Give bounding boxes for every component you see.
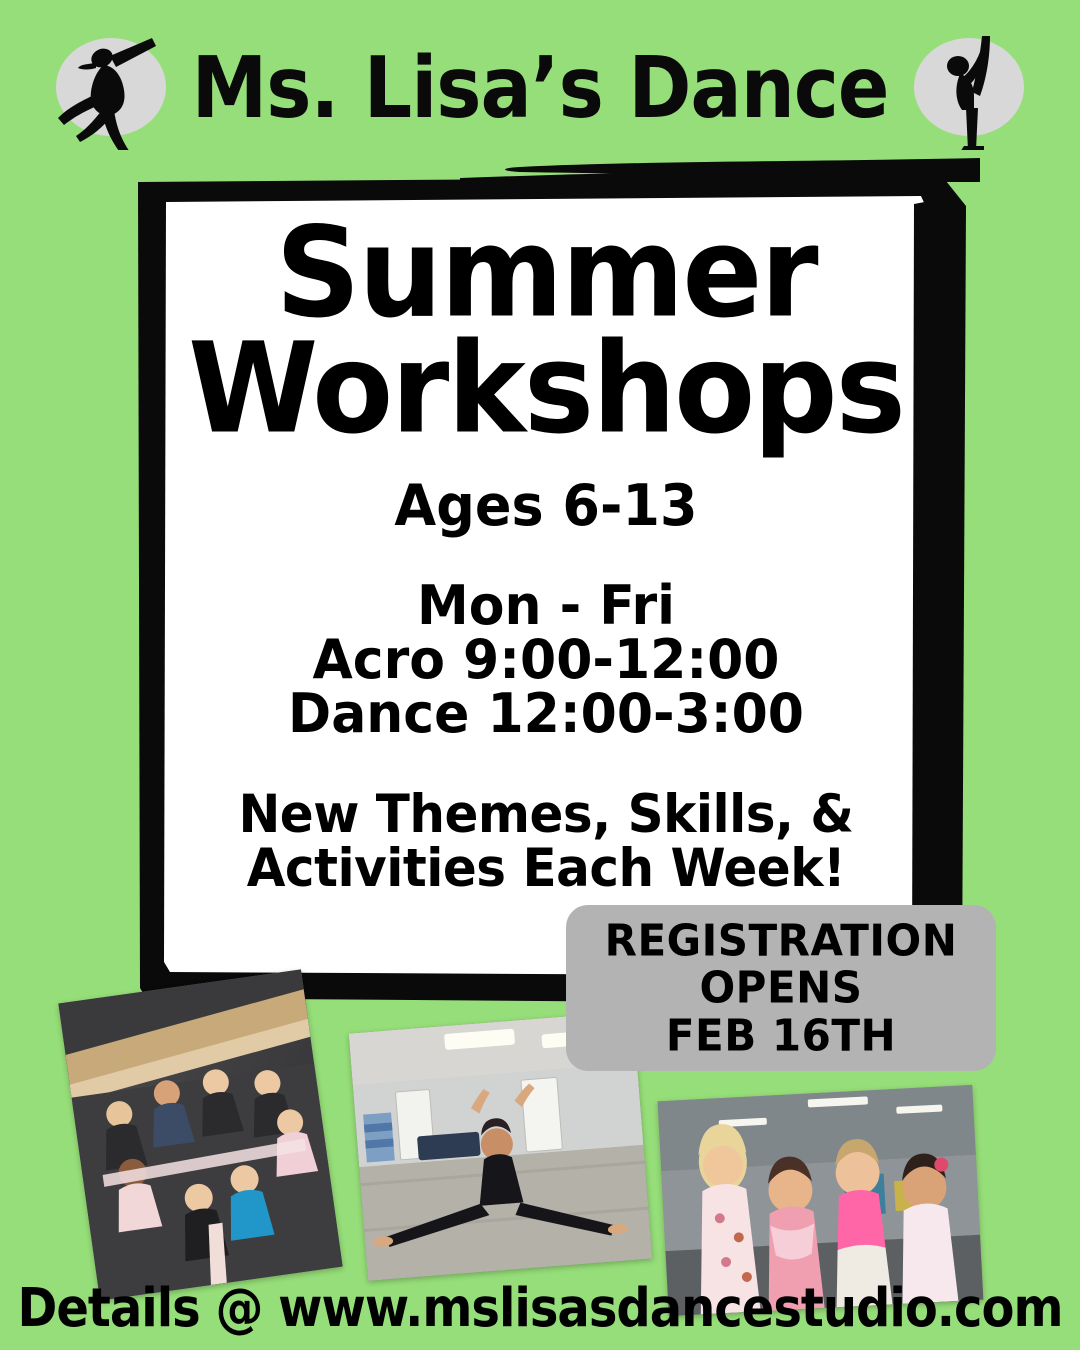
registration-line-3: FEB 16TH [666,1011,896,1059]
title-line-2: Workshops [152,329,940,448]
title-line-1: Summer [152,213,940,332]
registration-badge: REGISTRATION OPENS FEB 16TH [566,905,996,1071]
photo-group-splits-circle [58,969,342,1300]
schedule-acro: Acro 9:00-12:00 [152,632,940,689]
schedule-dance: Dance 12:00-3:00 [152,686,940,743]
schedule-block: Mon - Fri Acro 9:00-12:00 Dance 12:00-3:… [152,579,940,741]
themes-line-1: New Themes, Skills, & [152,786,940,843]
schedule-days: Mon - Fri [152,578,940,635]
ages-text: Ages 6-13 [152,473,940,539]
dancer-standing-split-icon [910,32,1028,144]
registration-line-1: REGISTRATION [605,917,958,965]
themes-line-2: Activities Each Week! [152,840,940,897]
footer-details: Details @ www.mslisasdancestudio.com [0,1277,1080,1340]
header: Ms. Lisa’s Dance [0,0,1080,175]
dancer-leap-icon [52,32,170,144]
registration-line-2: OPENS [699,964,862,1012]
themes-block: New Themes, Skills, & Activities Each We… [152,787,940,895]
content-card-frame: Summer Workshops Ages 6-13 Mon - Fri Acr… [126,176,966,1004]
page-title: Summer Workshops [152,216,940,444]
card-content: Summer Workshops Ages 6-13 Mon - Fri Acr… [126,176,966,895]
brand-title: Ms. Lisa’s Dance [192,45,889,130]
flyer-root: Ms. Lisa’s Dance [0,0,1080,1350]
